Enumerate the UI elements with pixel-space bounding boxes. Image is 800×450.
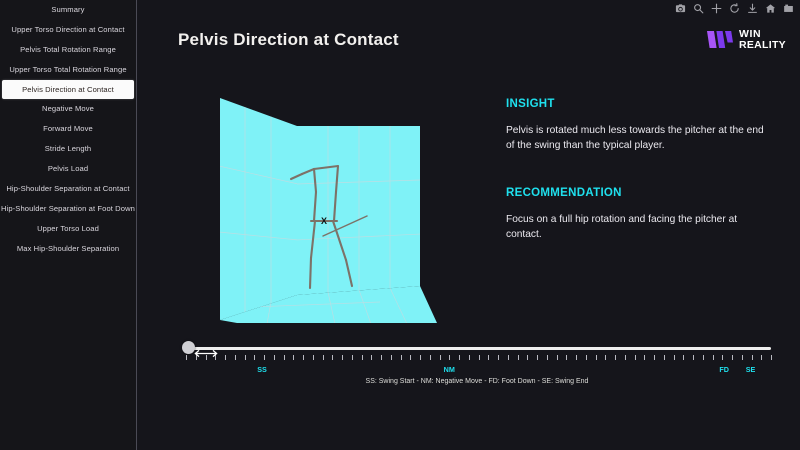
timeline-tick (722, 355, 723, 360)
zoom-icon[interactable] (693, 3, 704, 14)
timeline-tick (449, 355, 450, 360)
timeline-marker-nm: NM (444, 365, 455, 374)
sidebar-item-upper-torso-total-rotation-range[interactable]: Upper Torso Total Rotation Range (0, 60, 136, 80)
timeline-tick (635, 355, 636, 360)
timeline-tick (674, 355, 675, 360)
timeline-tick (683, 355, 684, 360)
pelvis-marker: X (321, 216, 327, 226)
sidebar-item-label: Stride Length (45, 144, 91, 153)
timeline-tick (410, 355, 411, 360)
timeline-tick (323, 355, 324, 360)
timeline-tick (225, 355, 226, 360)
timeline-tick (761, 355, 762, 360)
sidebar-item-label: Hip-Shoulder Separation at Contact (6, 184, 129, 193)
camera-icon[interactable] (675, 3, 686, 14)
timeline-tick (644, 355, 645, 360)
timeline-tick (664, 355, 665, 360)
timeline-tick (576, 355, 577, 360)
timeline-tick (371, 355, 372, 360)
timeline-track[interactable] (186, 347, 771, 350)
sidebar-item-label: Negative Move (42, 104, 94, 113)
sidebar-item-label: Upper Torso Total Rotation Range (9, 65, 126, 74)
timeline-tick (235, 355, 236, 360)
skeleton-scene: X (175, 80, 475, 325)
timeline-tick (732, 355, 733, 360)
timeline-tick (440, 355, 441, 360)
sidebar-item-label: Upper Torso Load (37, 224, 99, 233)
insight-body: Pelvis is rotated much less towards the … (506, 123, 768, 153)
timeline-ticks (186, 355, 771, 361)
sidebar-item-pelvis-direction-at-contact[interactable]: Pelvis Direction at Contact (2, 80, 134, 99)
sidebar-item-upper-torso-direction-at-contact[interactable]: Upper Torso Direction at Contact (0, 20, 136, 40)
timeline-tick (352, 355, 353, 360)
timeline-tick (293, 355, 294, 360)
timeline-tick (518, 355, 519, 360)
recommendation-body: Focus on a full hip rotation and facing … (506, 212, 768, 242)
timeline-tick (264, 355, 265, 360)
timeline-tick (498, 355, 499, 360)
logo-line-win: WIN (739, 29, 786, 40)
timeline-marker-ss: SS (257, 365, 267, 374)
timeline-tick (693, 355, 694, 360)
timeline-tick (206, 355, 207, 360)
sidebar-item-max-hip-shoulder-separation[interactable]: Max Hip-Shoulder Separation (0, 239, 136, 259)
timeline-tick (654, 355, 655, 360)
timeline-tick (625, 355, 626, 360)
timeline-tick (771, 355, 772, 360)
insight-heading: INSIGHT (506, 98, 555, 110)
page-title: Pelvis Direction at Contact (178, 30, 399, 50)
sidebar-item-summary[interactable]: Summary (0, 0, 136, 20)
timeline-tick (537, 355, 538, 360)
timeline-tick (430, 355, 431, 360)
timeline-tick (303, 355, 304, 360)
timeline-tick (254, 355, 255, 360)
sidebar-item-label: Summary (51, 5, 84, 14)
timeline-tick (557, 355, 558, 360)
timeline-tick (332, 355, 333, 360)
timeline-tick (479, 355, 480, 360)
sidebar-item-label: Pelvis Total Rotation Range (20, 45, 116, 54)
timeline-tick (313, 355, 314, 360)
timeline-marker-se: SE (746, 365, 756, 374)
timeline-tick (362, 355, 363, 360)
sidebar-item-label: Forward Move (43, 124, 93, 133)
home-icon[interactable] (765, 3, 776, 14)
timeline-tick (713, 355, 714, 360)
timeline-tick (215, 355, 216, 360)
sidebar-item-forward-move[interactable]: Forward Move (0, 119, 136, 139)
move-icon[interactable] (711, 3, 722, 14)
timeline-tick (381, 355, 382, 360)
sidebar: SummaryUpper Torso Direction at ContactP… (0, 0, 137, 450)
timeline-tick (196, 355, 197, 360)
download-icon[interactable] (747, 3, 758, 14)
sidebar-item-hip-shoulder-separation-at-foot-down[interactable]: Hip-Shoulder Separation at Foot Down (0, 199, 136, 219)
timeline-tick (186, 355, 187, 360)
timeline-tick (420, 355, 421, 360)
three-d-viewport[interactable]: X (175, 80, 475, 325)
sidebar-item-label: Max Hip-Shoulder Separation (17, 244, 119, 253)
viewport-toolbar (675, 3, 794, 14)
rotate-icon[interactable] (729, 3, 740, 14)
camera-roll-icon[interactable] (783, 3, 794, 14)
timeline-tick (566, 355, 567, 360)
timeline-tick (547, 355, 548, 360)
timeline-tick (342, 355, 343, 360)
timeline-tick (596, 355, 597, 360)
room-wall-left (219, 98, 298, 322)
timeline-tick (703, 355, 704, 360)
win-reality-logo: WIN REALITY (707, 29, 786, 50)
timeline-legend: SS: Swing Start - NM: Negative Move - FD… (366, 378, 589, 385)
logo-wordmark: WIN REALITY (739, 29, 786, 50)
timeline-tick (752, 355, 753, 360)
timeline-tick (605, 355, 606, 360)
timeline-tick (488, 355, 489, 360)
timeline-tick (469, 355, 470, 360)
sidebar-item-pelvis-load[interactable]: Pelvis Load (0, 159, 136, 179)
sidebar-item-upper-torso-load[interactable]: Upper Torso Load (0, 219, 136, 239)
sidebar-item-label: Pelvis Direction at Contact (22, 85, 114, 94)
win-reality-mark-icon (707, 31, 733, 48)
sidebar-item-hip-shoulder-separation-at-contact[interactable]: Hip-Shoulder Separation at Contact (0, 179, 136, 199)
timeline-tick (245, 355, 246, 360)
timeline-tick (527, 355, 528, 360)
logo-line-reality: REALITY (739, 40, 786, 51)
timeline-tick (508, 355, 509, 360)
sidebar-item-stride-length[interactable]: Stride Length (0, 139, 136, 159)
timeline-handle[interactable] (182, 341, 195, 354)
timeline-tick (391, 355, 392, 360)
timeline-tick (615, 355, 616, 360)
timeline-tick (459, 355, 460, 360)
timeline-tick (284, 355, 285, 360)
timeline-tick (742, 355, 743, 360)
recommendation-heading: RECOMMENDATION (506, 187, 622, 199)
sidebar-item-label: Pelvis Load (48, 164, 88, 173)
sidebar-item-negative-move[interactable]: Negative Move (0, 99, 136, 119)
sidebar-item-label: Hip-Shoulder Separation at Foot Down (1, 204, 135, 213)
timeline-marker-fd: FD (719, 365, 729, 374)
sidebar-item-label: Upper Torso Direction at Contact (11, 25, 124, 34)
timeline-tick (401, 355, 402, 360)
sidebar-item-pelvis-total-rotation-range[interactable]: Pelvis Total Rotation Range (0, 40, 136, 60)
timeline-tick (274, 355, 275, 360)
timeline-tick (586, 355, 587, 360)
